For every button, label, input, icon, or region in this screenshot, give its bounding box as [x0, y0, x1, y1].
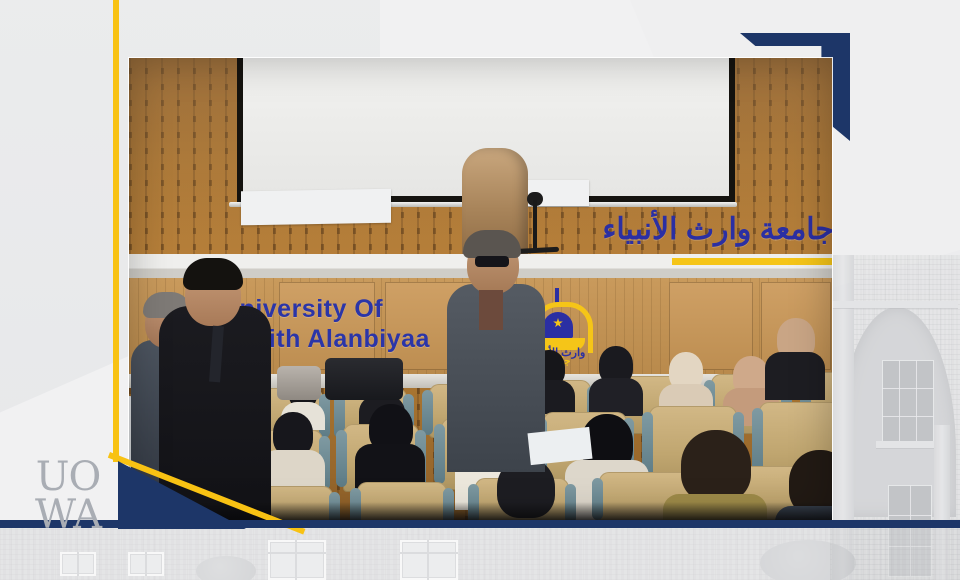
- event-photo: University Of Warith Alanbiyaa جامعة وار…: [129, 58, 832, 522]
- handbag: [277, 366, 321, 400]
- uowa-logo-line2: WA: [22, 495, 114, 535]
- banner-stage: University Of Warith Alanbiyaa جامعة وار…: [0, 0, 960, 580]
- wall-text-arabic-underline: [672, 258, 832, 265]
- microphone-stand: [533, 200, 537, 252]
- wall-text-arabic: جامعة وارث الأنبياء: [602, 212, 832, 247]
- held-paper: [527, 427, 592, 465]
- paper-on-desk: [241, 189, 391, 226]
- laptop-bag: [325, 358, 403, 400]
- glasses-icon: [475, 256, 509, 267]
- uowa-logo-line1: UO: [22, 457, 114, 497]
- yellow-accent-line-vertical: [113, 0, 119, 462]
- campus-building-watermark-lower: [0, 528, 960, 580]
- uowa-logo: UO WA: [22, 455, 114, 537]
- navy-horizontal-band: [0, 520, 960, 528]
